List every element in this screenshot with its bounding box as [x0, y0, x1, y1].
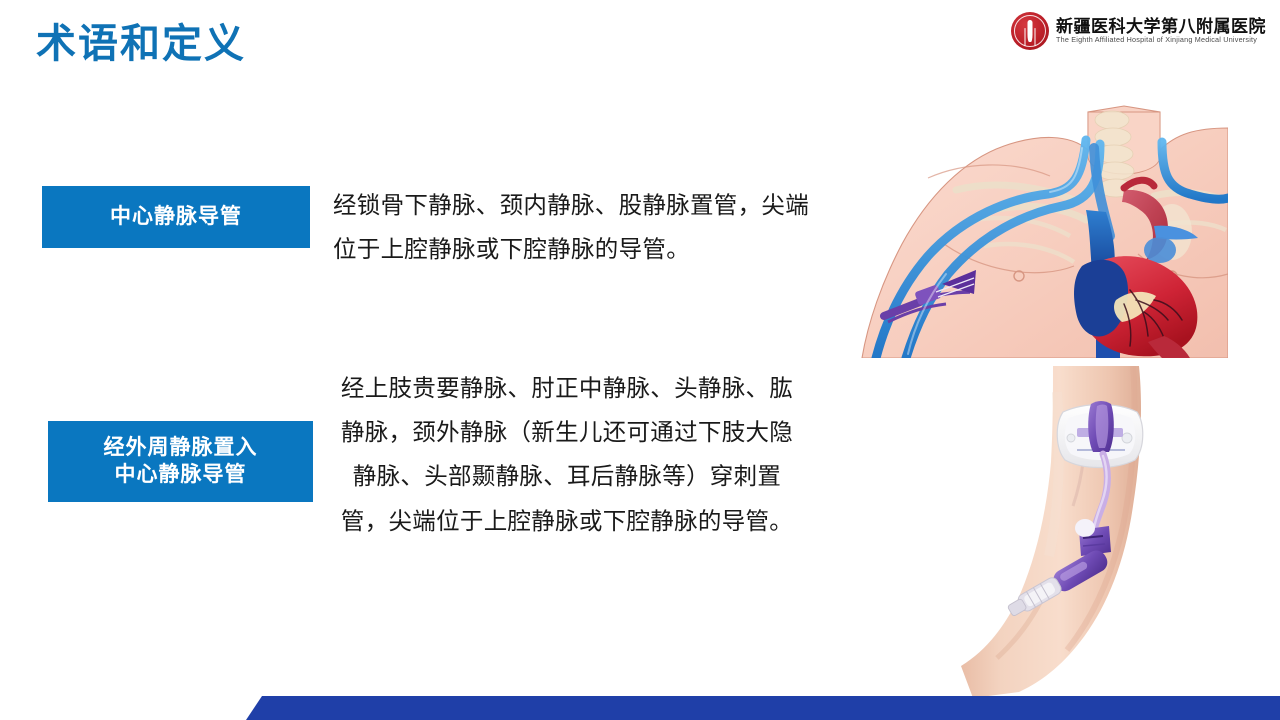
term-definition-picc: 经上肢贵要静脉、肘正中静脉、头静脉、肱静脉，颈外静脉（新生儿还可通过下肢大隐静脉…: [333, 366, 801, 543]
hospital-name-cn: 新疆医科大学第八附属医院: [1056, 18, 1266, 36]
hospital-name-en: The Eighth Affiliated Hospital of Xinjia…: [1056, 36, 1266, 44]
term-label-text: 中心静脉导管: [110, 204, 242, 231]
term-label-central-venous-catheter: 中心静脉导管: [42, 186, 310, 248]
picc-arm-photo-graphic: [957, 366, 1229, 698]
picc-arm-photo: [957, 366, 1229, 698]
term-label-line-2: 中心静脉导管: [104, 462, 258, 489]
bottom-banner: [0, 696, 1280, 720]
anatomy-illustration-graphic: [824, 104, 1228, 358]
hospital-logo: 新疆医科大学第八附属医院 The Eighth Affiliated Hospi…: [1011, 12, 1266, 50]
slide-root: 术语和定义 新疆医科大学第八附属医院 The Eighth Affiliated…: [0, 0, 1280, 720]
page-title: 术语和定义: [36, 20, 246, 68]
term-label-line-1: 经外周静脉置入: [104, 435, 258, 462]
central-venous-catheter-anatomy-illustration: [824, 104, 1228, 358]
hospital-seal-icon: [1011, 12, 1049, 50]
term-label-picc: 经外周静脉置入 中心静脉导管: [48, 421, 313, 502]
term-definition-central-venous-catheter: 经锁骨下静脉、颈内静脉、股静脉置管，尖端位于上腔静脉或下腔静脉的导管。: [333, 183, 823, 271]
hospital-logo-text: 新疆医科大学第八附属医院 The Eighth Affiliated Hospi…: [1056, 18, 1266, 45]
term-label-text-block: 经外周静脉置入 中心静脉导管: [104, 435, 258, 489]
